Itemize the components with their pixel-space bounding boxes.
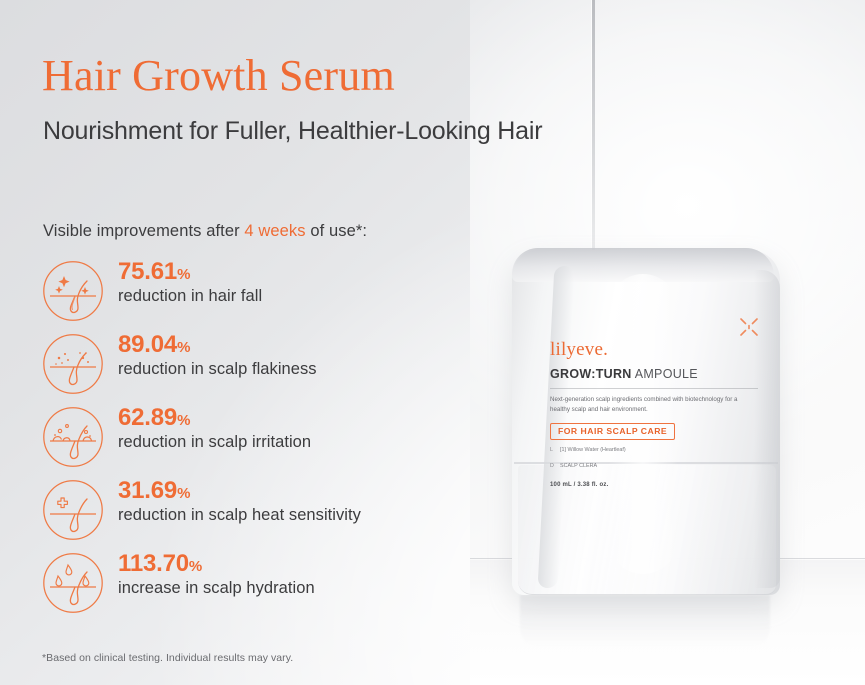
stat-unit: %	[189, 558, 202, 575]
product-photo: lilyeve. GROW:TURN AMPOULE Next-generati…	[470, 0, 865, 685]
hair-follicle-irritation-icon	[42, 406, 104, 468]
statistics-list: 75.61% reduction in hair fall	[42, 258, 462, 623]
bottle-reflection	[520, 595, 770, 647]
ingredient-key: L	[550, 446, 556, 456]
stat-label: reduction in scalp heat sensitivity	[118, 506, 361, 526]
stat-row: 113.70% increase in scalp hydration	[42, 550, 462, 623]
stat-text: 113.70% increase in scalp hydration	[118, 550, 315, 599]
stat-number: 113.70	[118, 550, 189, 577]
ingredient-line: L [1] Willow Water (Heartleaf)	[550, 446, 758, 456]
hair-follicle-cross-icon	[42, 479, 104, 541]
stat-number: 75.61	[118, 258, 177, 285]
stat-unit: %	[177, 266, 190, 283]
stat-text: 75.61% reduction in hair fall	[118, 258, 262, 307]
stat-row: 75.61% reduction in hair fall	[42, 258, 462, 331]
stat-unit: %	[177, 339, 190, 356]
results-intro-after: of use*:	[306, 222, 367, 240]
stat-unit: %	[177, 485, 190, 502]
stat-value: 62.89%	[118, 405, 311, 432]
disclaimer-footnote: *Based on clinical testing. Individual r…	[42, 652, 293, 664]
stat-number: 31.69	[118, 477, 177, 504]
stat-text: 62.89% reduction in scalp irritation	[118, 404, 311, 453]
stat-label: increase in scalp hydration	[118, 579, 315, 599]
ingredient-key: D	[550, 462, 556, 472]
stat-text: 89.04% reduction in scalp flakiness	[118, 331, 317, 380]
scalp-care-badge: FOR HAIR SCALP CARE	[550, 423, 675, 441]
hair-follicle-droplet-icon	[42, 552, 104, 614]
ingredient-text: [1] Willow Water (Heartleaf)	[560, 446, 626, 456]
page-title: Hair Growth Serum	[42, 54, 395, 98]
stat-value: 31.69%	[118, 478, 361, 505]
stat-value: 89.04%	[118, 332, 317, 359]
product-name-light: AMPOULE	[632, 367, 698, 381]
stat-text: 31.69% reduction in scalp heat sensitivi…	[118, 477, 361, 526]
results-intro: Visible improvements after 4 weeks of us…	[43, 222, 367, 241]
stat-number: 62.89	[118, 404, 177, 431]
product-description: Next-generation scalp ingredients combin…	[550, 395, 758, 415]
page-subtitle: Nourishment for Fuller, Healthier-Lookin…	[43, 118, 542, 146]
product-volume: 100 mL / 3.38 fl. oz.	[550, 482, 758, 488]
brand-name: lilyeve.	[550, 340, 758, 359]
stat-label: reduction in hair fall	[118, 287, 262, 307]
sparkle-mark-icon	[734, 312, 764, 342]
product-name-bold: GROW:TURN	[550, 367, 632, 381]
stat-value: 113.70%	[118, 551, 315, 578]
stat-label: reduction in scalp flakiness	[118, 360, 317, 380]
serum-bottle: lilyeve. GROW:TURN AMPOULE Next-generati…	[512, 250, 780, 595]
hair-follicle-sparkle-icon	[42, 260, 104, 322]
bottle-label: lilyeve. GROW:TURN AMPOULE Next-generati…	[550, 340, 758, 488]
stat-unit: %	[177, 412, 190, 429]
stat-row: 31.69% reduction in scalp heat sensitivi…	[42, 477, 462, 550]
stat-label: reduction in scalp irritation	[118, 433, 311, 453]
product-marketing-poster: lilyeve. GROW:TURN AMPOULE Next-generati…	[0, 0, 865, 685]
ingredient-text: SCALP CLERA	[560, 462, 597, 472]
ingredient-line: D SCALP CLERA	[550, 462, 758, 472]
results-intro-before: Visible improvements after	[43, 222, 244, 240]
stat-number: 89.04	[118, 331, 177, 358]
serum-stream	[592, 0, 595, 254]
label-divider	[550, 388, 758, 389]
results-intro-highlight: 4 weeks	[244, 222, 305, 240]
stat-row: 89.04% reduction in scalp flakiness	[42, 331, 462, 404]
stat-row: 62.89% reduction in scalp irritation	[42, 404, 462, 477]
product-name: GROW:TURN AMPOULE	[550, 368, 758, 381]
stat-value: 75.61%	[118, 259, 262, 286]
hair-follicle-flakes-icon	[42, 333, 104, 395]
